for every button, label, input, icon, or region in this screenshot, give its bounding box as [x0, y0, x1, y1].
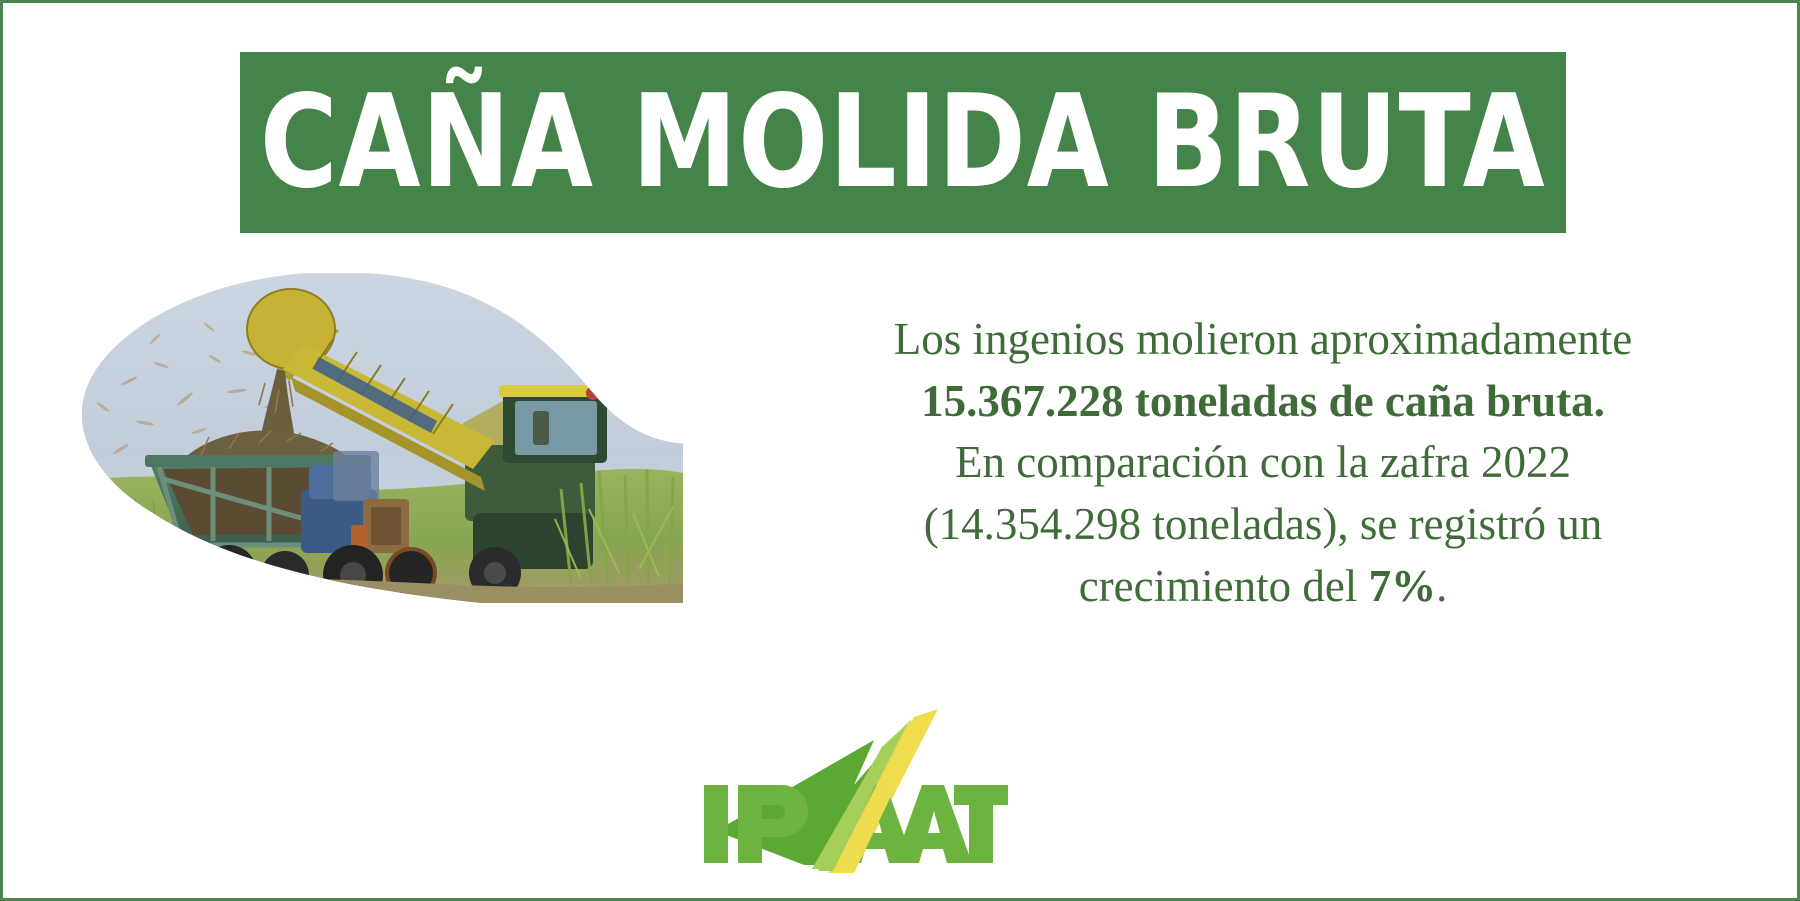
- copy-line-1: Los ingenios molieron aproximadamente: [803, 309, 1723, 371]
- growth-value: 7%: [1369, 561, 1437, 611]
- page-title: CAÑA MOLIDA BRUTA: [255, 79, 1552, 207]
- copy-line-5: crecimiento del 7%.: [803, 556, 1723, 618]
- ipaat-logo: [686, 693, 1016, 878]
- title-banner: CAÑA MOLIDA BRUTA: [240, 52, 1566, 233]
- ipaat-logo-mark: [686, 693, 1016, 878]
- growth-period: .: [1436, 561, 1447, 611]
- summary-text: Los ingenios molieron aproximadamente 15…: [803, 309, 1723, 617]
- copy-line-2-total: 15.367.228 toneladas de caña bruta.: [803, 371, 1723, 433]
- growth-label: crecimiento del: [1079, 561, 1369, 611]
- copy-line-3: En comparación con la zafra 2022: [803, 432, 1723, 494]
- harvest-photo: [33, 273, 683, 603]
- photo-container: [33, 273, 683, 603]
- copy-line-4-previous-total: (14.354.298 toneladas), se registró un: [803, 494, 1723, 556]
- harvest-photo-illustration: [33, 273, 683, 603]
- infographic-canvas: CAÑA MOLIDA BRUTA: [0, 0, 1800, 901]
